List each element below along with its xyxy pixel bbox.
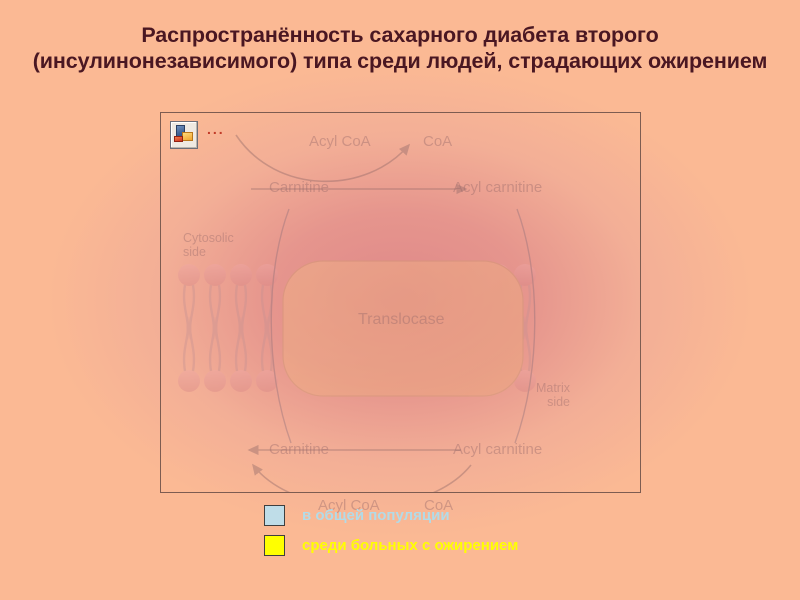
broken-image-red-shape — [174, 136, 183, 142]
diagram-label-carnitine-bottom: Carnitine — [269, 441, 329, 458]
broken-image-icon[interactable] — [170, 121, 198, 149]
diagram-label-acyl-carnitine-top: Acyl carnitine — [453, 179, 542, 196]
legend-label-general-population: в общей популяции — [302, 507, 450, 524]
legend-item-general-population[interactable]: в общей популяции — [264, 503, 518, 527]
broken-image-alt-text: ... — [207, 122, 225, 136]
diagram-label-carnitine-top: Carnitine — [269, 179, 329, 196]
diagram-label-cytosolic-side: Cytosolic side — [183, 231, 243, 259]
legend-swatch-obese-patients — [264, 535, 285, 556]
broken-image-yellow-shape — [182, 132, 193, 141]
diagram-label-acyl-coa-top: Acyl CoA — [309, 133, 371, 150]
legend-swatch-general-population — [264, 505, 285, 526]
diagram-svg — [161, 113, 641, 493]
legend-label-obese-patients: среди больных с ожирением — [302, 537, 518, 554]
chart-legend: в общей популяции среди больных с ожирен… — [264, 503, 518, 563]
diagram-label-acyl-carnitine-bottom: Acyl carnitine — [453, 441, 542, 458]
legend-item-obese-patients[interactable]: среди больных с ожирением — [264, 533, 518, 557]
diagram-label-coa-top: CoA — [423, 133, 452, 150]
chart-picture-frame[interactable]: Acyl CoA CoA Carnitine Acyl carnitine Cy… — [160, 112, 641, 493]
page-title: Распространённость сахарного диабета вто… — [26, 22, 774, 74]
diagram-label-coa-bottom: CoA — [423, 491, 452, 493]
background-diagram: Acyl CoA CoA Carnitine Acyl carnitine Cy… — [161, 113, 640, 492]
slide-canvas: Распространённость сахарного диабета вто… — [0, 0, 800, 600]
diagram-label-matrix-side: Matrix side — [518, 381, 570, 409]
diagram-label-acyl-coa-bottom: Acyl CoA — [309, 491, 371, 493]
diagram-label-translocase: Translocase — [358, 311, 445, 329]
